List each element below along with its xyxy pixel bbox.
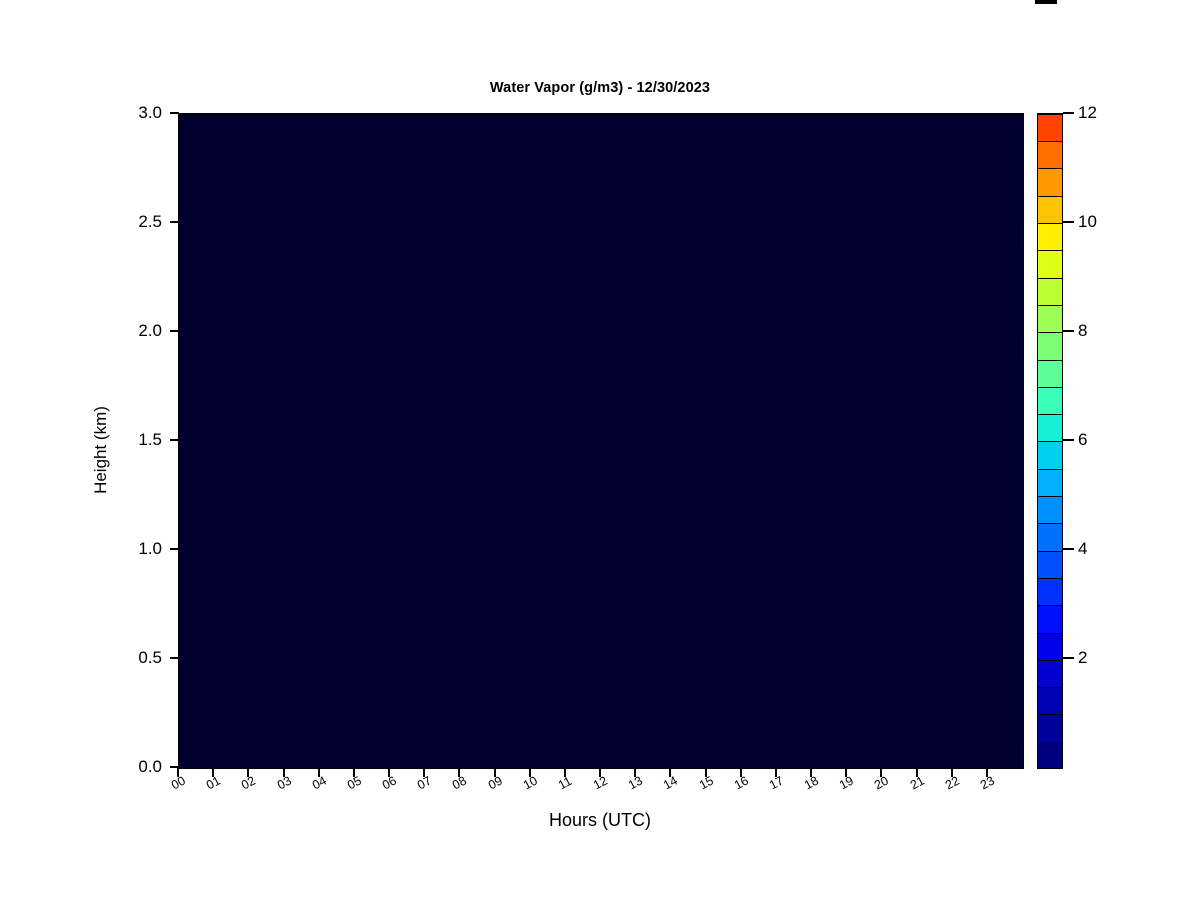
colorbar-band [1038,523,1062,550]
heatmap-plot-area [178,113,1024,769]
x-tick-mark [423,768,425,777]
colorbar-tick-mark [1063,221,1074,223]
colorbar-band [1038,496,1062,523]
figure-root: Water Vapor (g/m3) - 12/30/2023 0.00.51.… [0,0,1200,900]
x-tick-mark [986,768,988,777]
colorbar-band [1038,660,1062,687]
colorbar-band [1038,469,1062,496]
colorbar-tick-label: 6 [1078,430,1087,450]
colorbar-band [1038,605,1062,632]
x-tick-label: 14 [661,773,680,792]
page-title: Water Vapor (g/m3) - 12/30/2023 [0,80,1200,96]
x-tick-mark [845,768,847,777]
y-tick-label: 2.5 [68,212,162,232]
x-tick-label: 08 [450,773,469,792]
x-tick-mark [353,768,355,777]
colorbar-tick-mark [1063,112,1074,114]
x-tick-label: 16 [732,773,751,792]
x-tick-mark [599,768,601,777]
x-tick-label: 15 [697,773,716,792]
y-tick-label: 1.5 [68,430,162,450]
colorbar-band [1038,278,1062,305]
x-tick-mark [775,768,777,777]
colorbar-band [1038,441,1062,468]
y-axis-title: Height (km) [91,406,111,494]
colorbar-band [1038,141,1062,168]
colorbar-band [1038,223,1062,250]
x-tick-mark [634,768,636,777]
x-tick-mark [705,768,707,777]
colorbar-band [1038,578,1062,605]
colorbar-band [1038,414,1062,441]
x-tick-mark [247,768,249,777]
x-tick-label: 13 [626,773,645,792]
x-tick-mark [177,768,179,777]
colorbar-band [1038,551,1062,578]
x-tick-label: 02 [239,773,258,792]
y-tick-label: 0.5 [68,648,162,668]
y-tick-label: 0.0 [68,757,162,777]
x-axis-title: Hours (UTC) [178,810,1022,831]
x-tick-label: 03 [275,773,294,792]
colorbar-band [1038,742,1062,768]
x-tick-mark [810,768,812,777]
colorbar-band [1038,250,1062,277]
x-tick-label: 01 [204,773,223,792]
x-tick-mark [458,768,460,777]
x-tick-label: 20 [872,773,891,792]
x-tick-mark [388,768,390,777]
colorbar-tick-label: 10 [1078,212,1097,232]
colorbar-band [1038,168,1062,195]
x-tick-mark [529,768,531,777]
x-tick-mark [916,768,918,777]
x-tick-label: 22 [943,773,962,792]
x-tick-label: 19 [837,773,856,792]
colorbar-tick-label: 4 [1078,539,1087,559]
x-tick-label: 09 [486,773,505,792]
x-tick-label: 11 [556,774,574,792]
top-edge-artifact [1035,0,1057,4]
x-tick-mark [494,768,496,777]
water-vapor-heatmap-canvas [179,114,1023,768]
x-tick-label: 00 [169,773,188,792]
colorbar-tick-label: 8 [1078,321,1087,341]
colorbar-tick-label: 12 [1078,103,1097,123]
y-tick-label: 1.0 [68,539,162,559]
colorbar-band [1038,387,1062,414]
colorbar-band [1038,196,1062,223]
colorbar-band [1038,714,1062,741]
colorbar-band [1038,360,1062,387]
x-tick-mark [318,768,320,777]
x-tick-mark [880,768,882,777]
colorbar-tick-mark [1063,330,1074,332]
x-tick-mark [951,768,953,777]
x-tick-label: 10 [521,773,540,792]
x-tick-mark [740,768,742,777]
x-tick-label: 07 [415,773,434,792]
colorbar-tick-mark [1063,548,1074,550]
x-tick-label: 21 [908,773,927,792]
y-tick-label: 2.0 [68,321,162,341]
colorbar-tick-label: 2 [1078,648,1087,668]
x-tick-mark [669,768,671,777]
colorbar-band [1038,633,1062,660]
colorbar [1037,113,1063,769]
colorbar-band [1038,332,1062,359]
y-tick-label: 3.0 [68,103,162,123]
colorbar-band [1038,114,1062,141]
x-tick-mark [283,768,285,777]
x-tick-label: 17 [767,773,786,792]
x-tick-mark [212,768,214,777]
x-tick-label: 06 [380,773,399,792]
colorbar-band [1038,305,1062,332]
colorbar-band [1038,687,1062,714]
x-tick-label: 05 [345,773,364,792]
x-tick-label: 18 [802,773,821,792]
x-tick-label: 04 [310,773,329,792]
x-tick-mark [564,768,566,777]
x-tick-label: 12 [591,773,610,792]
colorbar-tick-mark [1063,657,1074,659]
x-tick-label: 23 [978,773,997,792]
colorbar-tick-mark [1063,439,1074,441]
